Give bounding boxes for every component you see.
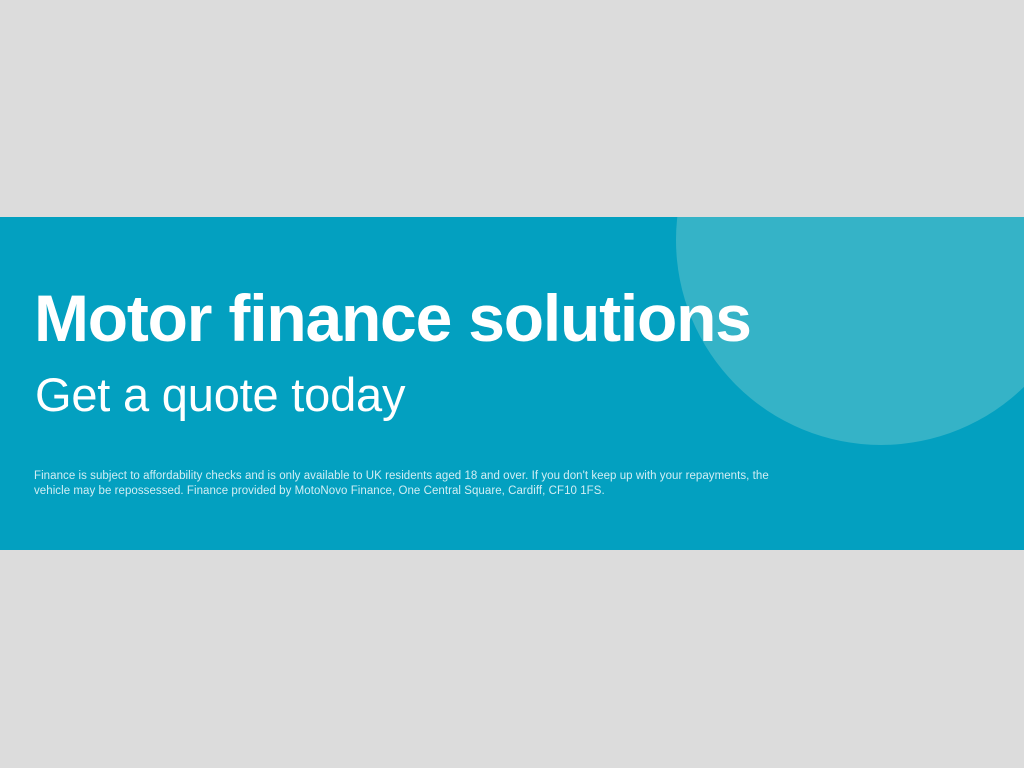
banner-copy-block: Motor finance solutions Get a quote toda… bbox=[34, 217, 834, 550]
advertisement-page: Motor finance solutions Get a quote toda… bbox=[0, 0, 1024, 768]
banner-disclaimer-text: Finance is subject to affordability chec… bbox=[34, 469, 776, 499]
banner-subheadline: Get a quote today bbox=[35, 371, 405, 418]
banner-headline: Motor finance solutions bbox=[34, 285, 751, 351]
motor-finance-banner-ad[interactable]: Motor finance solutions Get a quote toda… bbox=[0, 217, 1024, 550]
